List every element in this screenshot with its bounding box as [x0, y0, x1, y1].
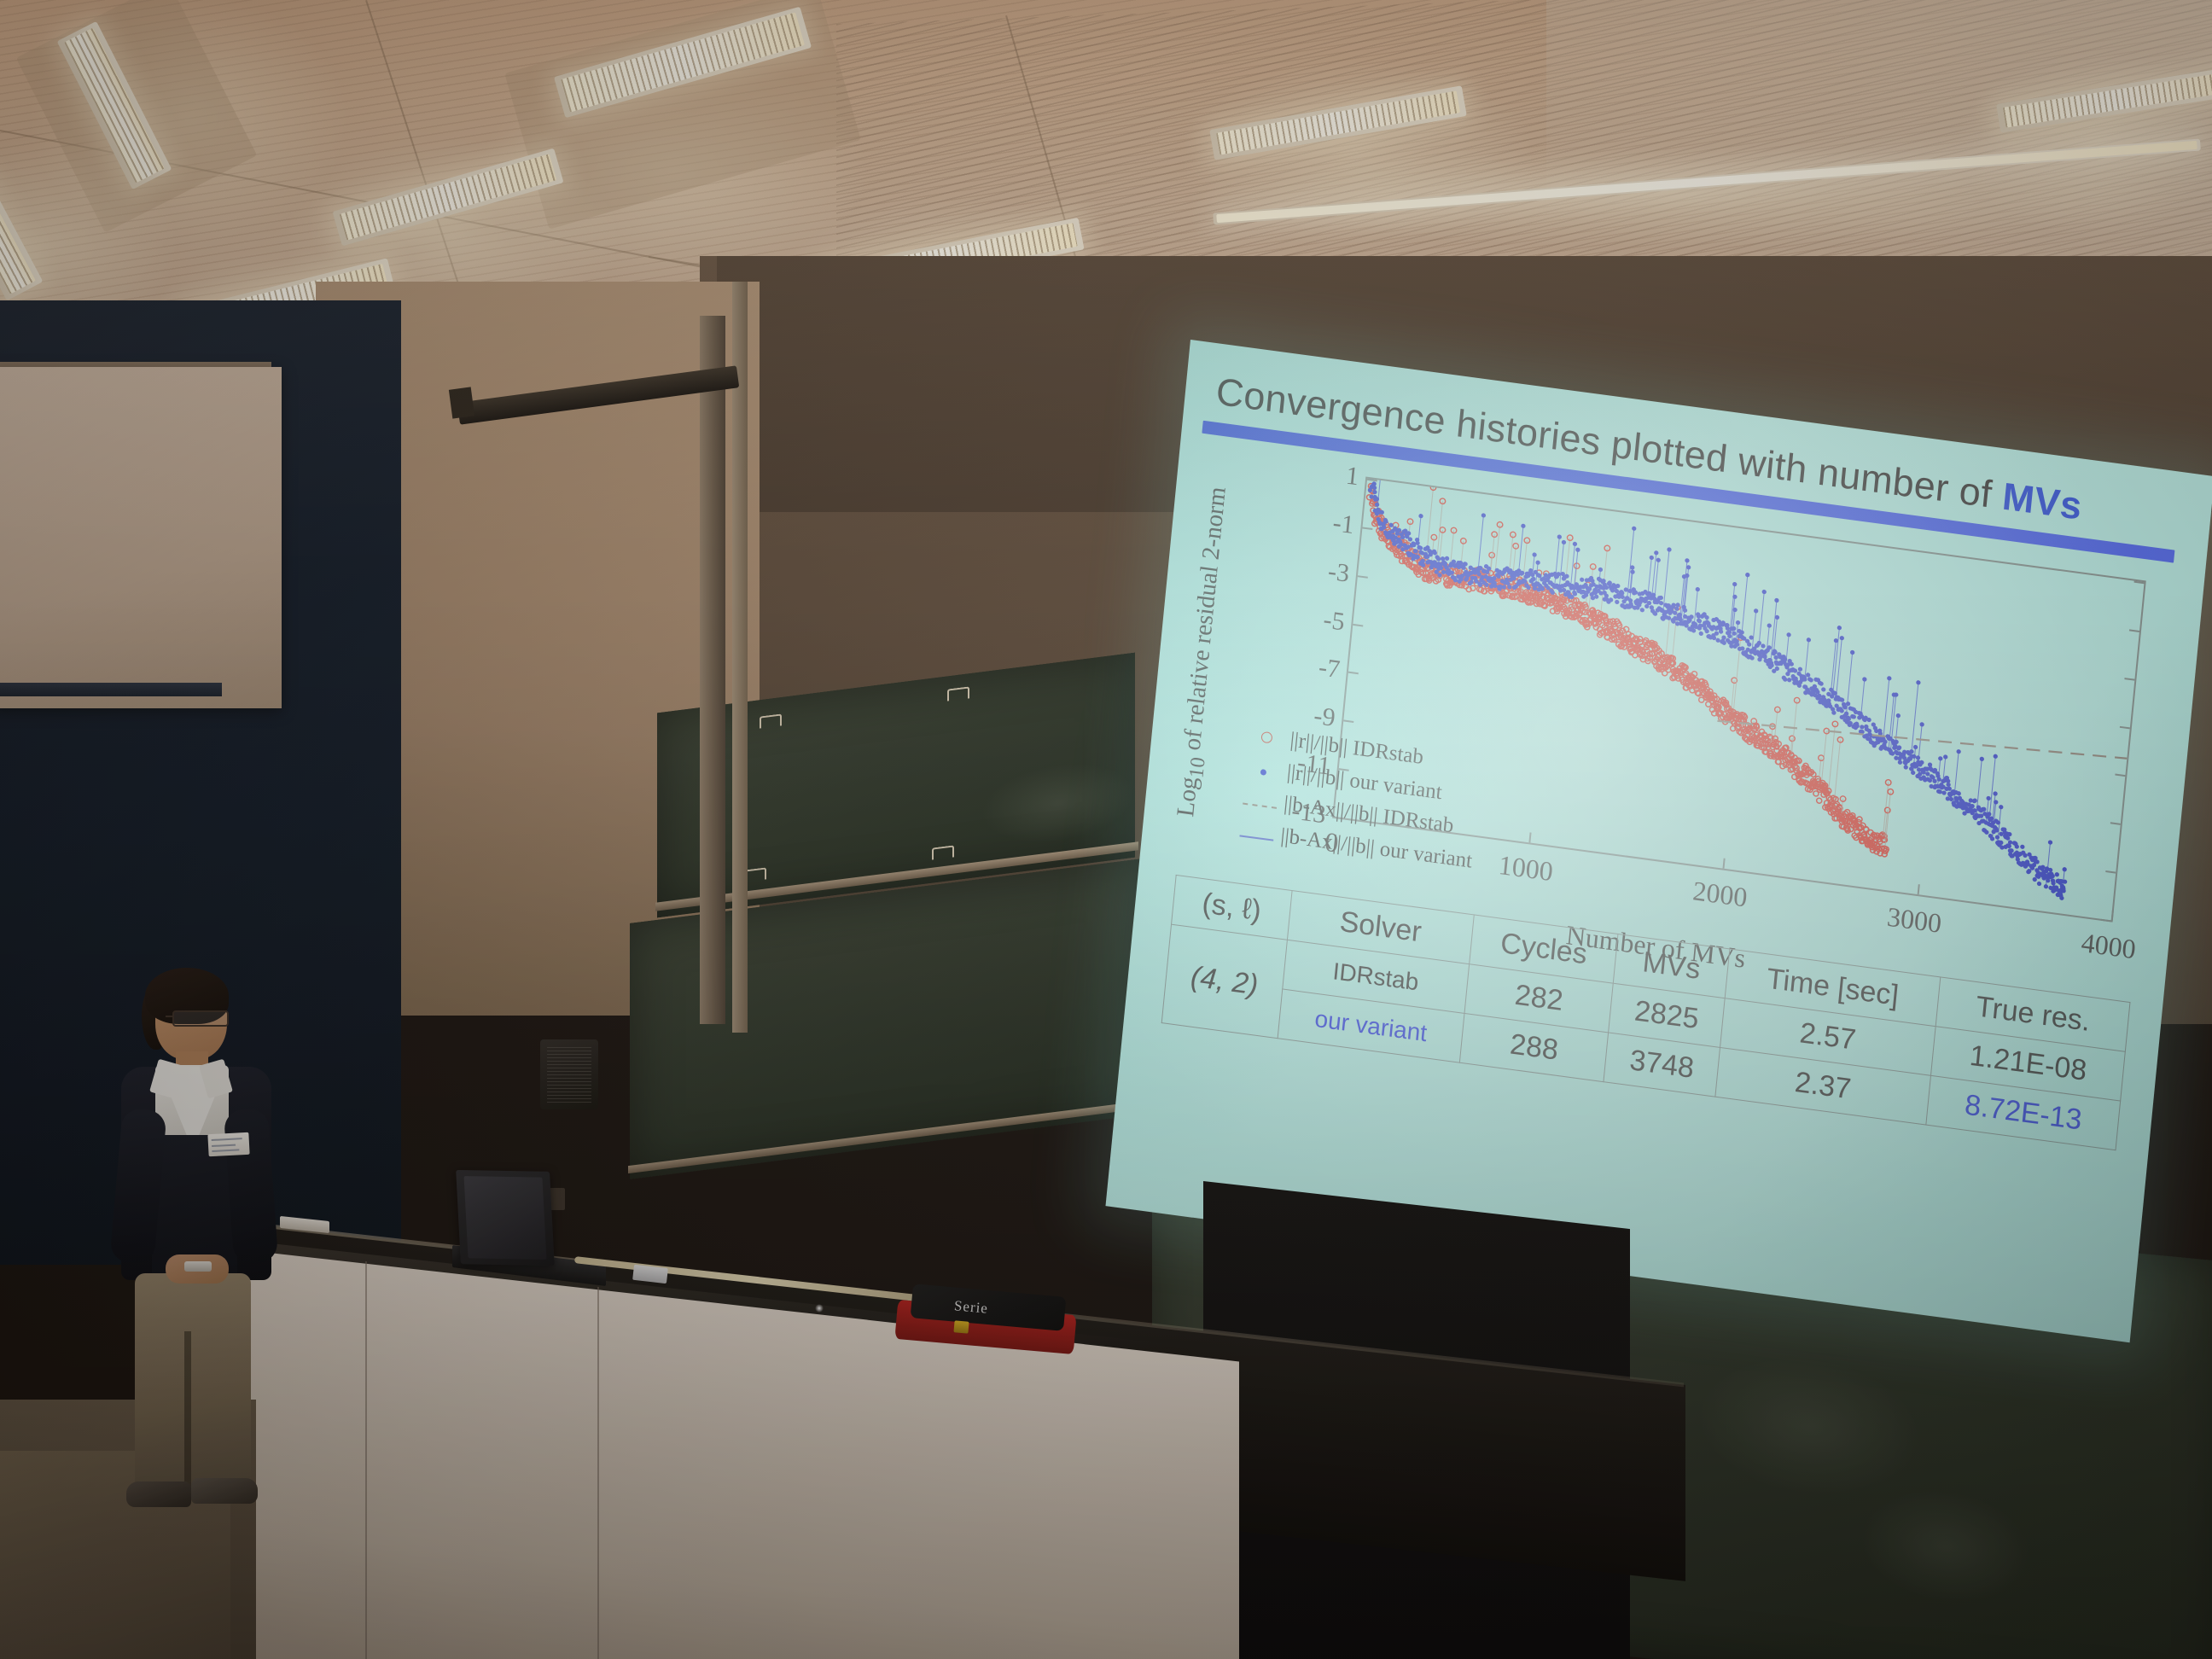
eyeglasses-icon: [172, 1010, 229, 1027]
speaker-grille: [547, 1046, 591, 1103]
lecture-hall-photo: Convergence histories plotted with numbe…: [0, 0, 2212, 1659]
laptop-screen: [464, 1176, 547, 1260]
chalk-smudge: [981, 755, 1135, 852]
board-track: [700, 316, 725, 1024]
wall-speaker: [540, 1039, 598, 1109]
name-badge: [207, 1132, 249, 1156]
pointer-highlight: [815, 1304, 824, 1313]
presenter-shoe: [126, 1481, 191, 1507]
trouser-seam: [184, 1331, 191, 1493]
bag-logo: Serie: [953, 1297, 989, 1317]
desk-panel-seam: [597, 1287, 599, 1659]
board-track: [732, 282, 748, 1033]
chalk-smudge: [1698, 1348, 1920, 1505]
left-whiteboard: [0, 367, 282, 708]
chalk-smudge: [1860, 1482, 2031, 1610]
presenter-shoe: [191, 1478, 258, 1504]
laptop[interactable]: [456, 1170, 555, 1266]
lecture-desk-front: [224, 1248, 1239, 1659]
presentation-clicker[interactable]: [184, 1261, 212, 1272]
desk-panel-seam: [365, 1261, 367, 1659]
presenter: [102, 973, 316, 1519]
screen-mount-bracket: [449, 387, 474, 418]
bag-clasp: [953, 1320, 969, 1333]
whiteboard-ledge: [0, 683, 222, 696]
presenter-trousers: [135, 1273, 251, 1493]
